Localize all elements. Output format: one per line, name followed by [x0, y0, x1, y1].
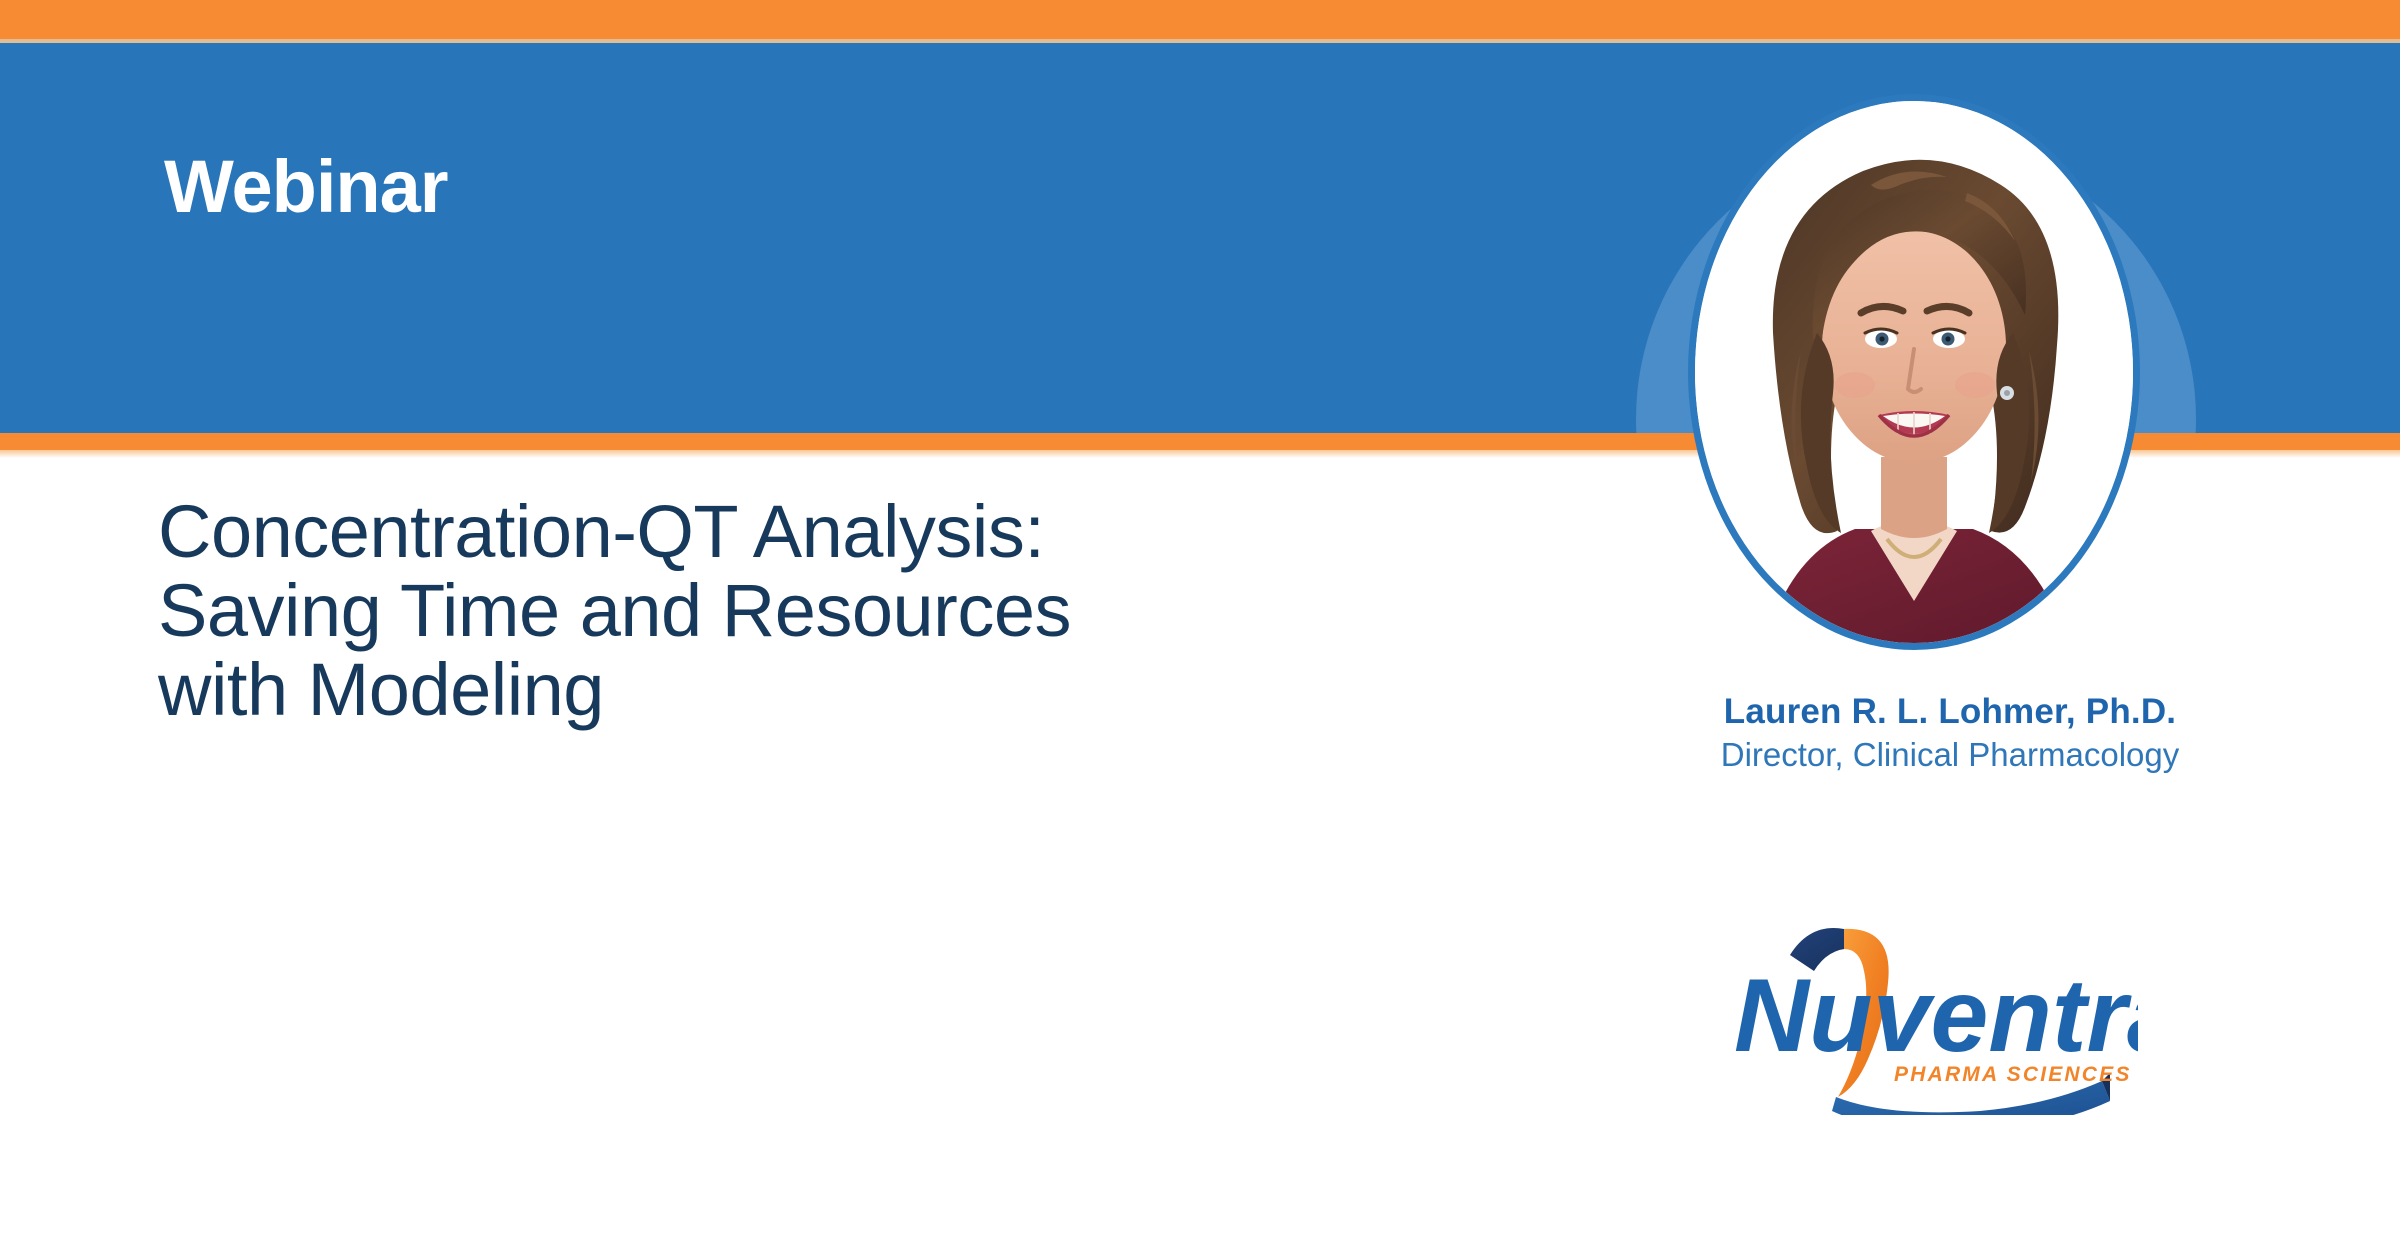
logo-tagline: PHARMA SCIENCES — [1894, 1063, 2132, 1086]
title-line-2: Saving Time and Resources — [158, 571, 1438, 650]
speaker-name: Lauren R. L. Lohmer, Ph.D. — [1630, 692, 2270, 732]
portrait-ring — [1688, 94, 2140, 650]
webinar-title-slide: Webinar Concentration-QT Analysis: Savin… — [0, 0, 2400, 1254]
eyebrow-label: Webinar — [164, 150, 448, 224]
speaker-block: Lauren R. L. Lohmer, Ph.D. Director, Cli… — [1630, 692, 2270, 774]
speaker-role: Director, Clinical Pharmacology — [1630, 736, 2270, 774]
title-line-3: with Modeling — [158, 650, 1438, 729]
top-orange-band — [0, 0, 2400, 39]
avatar — [1695, 101, 2133, 643]
page-title: Concentration-QT Analysis: Saving Time a… — [158, 492, 1438, 730]
speaker-portrait — [1688, 94, 2140, 650]
logo-wordmark: Nuventra — [1734, 958, 2138, 1074]
title-line-1: Concentration-QT Analysis: — [158, 492, 1438, 571]
nuventra-logo: Nuventra PHARMA SCIENCES — [1718, 905, 2138, 1115]
